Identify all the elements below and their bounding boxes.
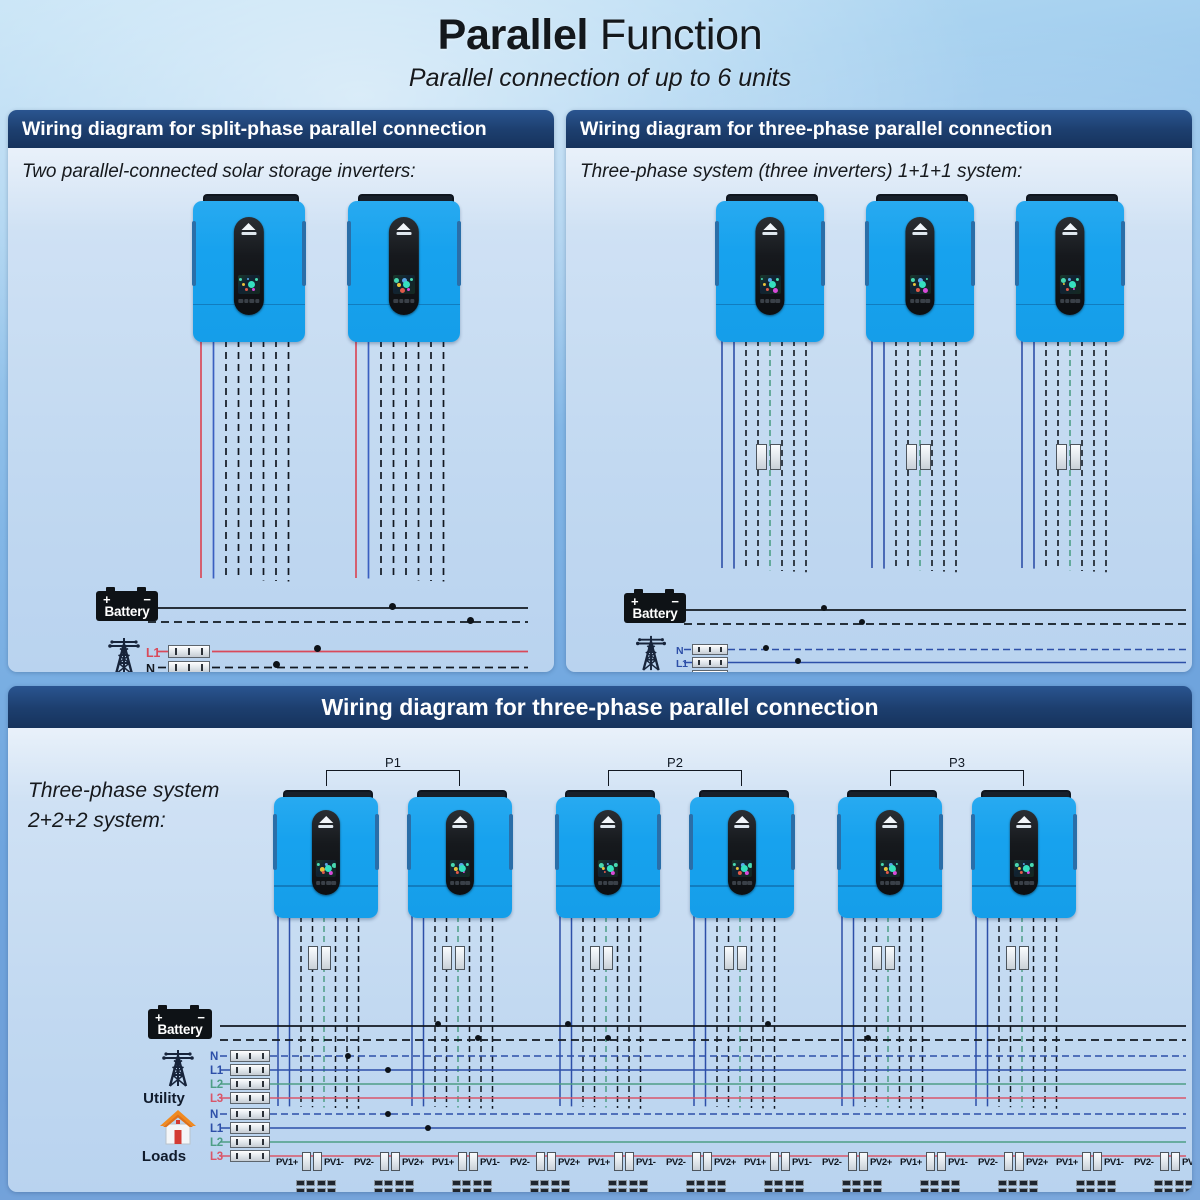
- inverter-unit-3[interactable]: [1016, 194, 1124, 342]
- inverter-front-panel: [755, 217, 784, 316]
- inverter-buttons[interactable]: [1014, 880, 1034, 886]
- inverter-unit-1[interactable]: [274, 790, 378, 918]
- page-header: Parallel Function Parallel connection of…: [0, 0, 1200, 108]
- utility-phase-label-N: N: [210, 1051, 218, 1063]
- inverter-button-1[interactable]: [765, 299, 769, 303]
- solar-cell: [920, 1180, 929, 1186]
- solar-cell: [920, 1188, 929, 1193]
- inverter-button-1[interactable]: [321, 881, 325, 885]
- battery-icon: +−Battery: [148, 1009, 212, 1039]
- logo-wordmark: [453, 825, 468, 828]
- inverter-button-0[interactable]: [732, 881, 736, 885]
- inverter-button-1[interactable]: [455, 881, 459, 885]
- lcd-indicator: [410, 278, 413, 281]
- inverter-button-3[interactable]: [255, 299, 260, 303]
- lcd-indicator: [776, 278, 779, 281]
- solar-cell: [317, 1188, 326, 1193]
- inverter-lcd-display: [760, 275, 781, 295]
- terminal-pin: [698, 660, 700, 666]
- inverter-buttons[interactable]: [732, 880, 752, 886]
- terminal-pin: [201, 664, 203, 671]
- brand-logo-icon: [1061, 223, 1079, 236]
- wire-junction-2: [345, 1053, 351, 1059]
- inverter-buttons[interactable]: [316, 880, 336, 886]
- loads-breaker-L3: [230, 1150, 270, 1162]
- logo-triangle-icon: [763, 223, 777, 230]
- lcd-indicator: [1073, 288, 1075, 290]
- inverter-button-1[interactable]: [603, 881, 607, 885]
- lcd-indicator: [1066, 288, 1069, 291]
- lcd-indicator: [916, 288, 920, 292]
- solar-cell: [1086, 1180, 1095, 1186]
- inverter-unit-2[interactable]: [866, 194, 974, 342]
- solar-cell: [629, 1180, 638, 1186]
- loads-phase-label-L2: L2: [210, 1137, 223, 1149]
- inverter-side-fin-left: [971, 814, 975, 870]
- lcd-indicator: [602, 867, 605, 870]
- group-label-P1: P1: [381, 755, 405, 770]
- inverter-button-3[interactable]: [466, 881, 470, 885]
- lcd-indicator: [923, 288, 928, 293]
- inverter-side-fin-right: [821, 221, 825, 286]
- inverter-button-3[interactable]: [748, 881, 752, 885]
- lcd-indicator: [611, 871, 615, 875]
- inverter-body: [274, 797, 378, 918]
- logo-wordmark: [762, 232, 777, 235]
- inverter-button-3[interactable]: [332, 881, 336, 885]
- inverter-body: [348, 201, 460, 342]
- loads-phase-label-N: N: [210, 1109, 218, 1121]
- inverter-side-fin-left: [715, 221, 719, 286]
- solar-cell: [296, 1180, 305, 1186]
- pv-terminal-left-7: [770, 1152, 779, 1171]
- solar-cell: [405, 1180, 414, 1186]
- pv-terminal-left-10: [1004, 1152, 1013, 1171]
- lcd-indicator: [1076, 278, 1079, 281]
- inverter-lcd-display: [450, 860, 470, 877]
- solar-cell: [530, 1188, 539, 1193]
- inverter-unit-6[interactable]: [972, 790, 1076, 918]
- brand-logo-icon: [733, 816, 750, 827]
- lcd-indicator: [748, 863, 752, 868]
- solar-cell: [462, 1188, 471, 1193]
- inverter-button-0[interactable]: [760, 299, 764, 303]
- inverter-lcd-display: [910, 275, 931, 295]
- utility-breaker-L1: [168, 645, 210, 658]
- solar-panel-icon: [842, 1180, 882, 1192]
- inverter-body: [838, 797, 942, 918]
- solar-cell: [795, 1180, 804, 1186]
- lcd-indicator: [332, 863, 336, 868]
- inverter-front-panel: [446, 810, 474, 895]
- inverter-unit-4[interactable]: [690, 790, 794, 918]
- brand-logo-icon: [451, 816, 468, 827]
- solar-cell: [863, 1180, 872, 1186]
- logo-wordmark: [601, 825, 616, 828]
- inverter-button-1[interactable]: [1019, 881, 1023, 885]
- terminal-pin: [175, 664, 177, 671]
- inverter-breaker-b-2: [920, 444, 931, 470]
- lcd-center-indicator: [403, 281, 410, 288]
- wire-junction-8: [765, 1021, 771, 1027]
- pv-terminal-right-9: [937, 1152, 946, 1171]
- pv-array-5: PV array: [608, 1180, 648, 1192]
- lcd-indicator: [1030, 863, 1034, 867]
- pv-array-8: PV array: [842, 1180, 882, 1192]
- inverter-breaker-b-5: [885, 946, 895, 970]
- inverter-side-fin-right: [302, 221, 306, 286]
- inverter-button-0[interactable]: [238, 299, 243, 303]
- terminal-pin: [262, 1125, 264, 1131]
- solar-cell: [1029, 1188, 1038, 1193]
- loads-phase-label-L3: L3: [210, 1151, 223, 1163]
- solar-cell: [1185, 1180, 1192, 1186]
- inverter-front-panel: [1055, 217, 1084, 316]
- inverter-body: [866, 201, 974, 342]
- terminal-pin: [698, 647, 700, 653]
- inverter-breaker-b-4: [737, 946, 747, 970]
- inverter-breaker-b-2: [455, 946, 465, 970]
- terminal-pin: [262, 1053, 264, 1059]
- solar-cell: [540, 1180, 549, 1186]
- inverter-buttons[interactable]: [880, 880, 900, 886]
- solar-cell: [1019, 1180, 1028, 1186]
- inverter-unit-2[interactable]: [408, 790, 512, 918]
- inverter-button-3[interactable]: [614, 881, 618, 885]
- inverter-side-fin-right: [657, 814, 661, 870]
- inverter-button-2[interactable]: [890, 881, 894, 885]
- inverter-button-0[interactable]: [598, 881, 602, 885]
- logo-triangle-icon: [883, 816, 897, 823]
- wire-junction-7: [605, 1035, 611, 1041]
- lcd-indicator: [1018, 867, 1021, 870]
- inverter-breaker-a-6: [1006, 946, 1016, 970]
- inverter-side-fin-left: [555, 814, 559, 870]
- inverter-button-2[interactable]: [1070, 299, 1074, 303]
- inverter-button-1[interactable]: [915, 299, 919, 303]
- pv-terminal-label-left-9: PV1+: [900, 1157, 922, 1168]
- terminal-pin: [188, 648, 190, 655]
- pv-terminal-left-6: [692, 1152, 701, 1171]
- pv-array-9: PV array: [920, 1180, 960, 1192]
- inverter-button-0[interactable]: [393, 299, 398, 303]
- inverter-lcd-display: [1014, 860, 1034, 877]
- inverter-button-3[interactable]: [896, 881, 900, 885]
- pv-terminal-label-right-6: PV2+: [714, 1157, 736, 1168]
- pv-array-12: PV array: [1154, 1180, 1192, 1192]
- group-label-P2: P2: [663, 755, 687, 770]
- inverter-button-0[interactable]: [880, 881, 884, 885]
- inverter-button-2[interactable]: [326, 881, 330, 885]
- brand-logo-icon: [881, 816, 898, 827]
- lcd-indicator: [886, 871, 889, 874]
- group-label-P3: P3: [945, 755, 969, 770]
- inverter-button-1[interactable]: [885, 881, 889, 885]
- solar-cell: [686, 1180, 695, 1186]
- solar-cell: [774, 1180, 783, 1186]
- utility-breaker-N: [692, 644, 728, 655]
- pv-terminal-label-right-3: PV1-: [480, 1157, 500, 1168]
- battery-plus-label: +: [631, 596, 639, 610]
- inverter-unit-2[interactable]: [348, 194, 460, 342]
- lcd-indicator: [733, 863, 736, 866]
- inverter-button-2[interactable]: [608, 881, 612, 885]
- terminal-pin: [236, 1139, 238, 1145]
- pv-terminal-left-9: [926, 1152, 935, 1171]
- pv-terminal-label-right-12: PV2+: [1182, 1157, 1192, 1168]
- inverter-button-2[interactable]: [460, 881, 464, 885]
- utility-phase-label-L1: L1: [676, 658, 688, 670]
- pv-terminal-left-11: [1082, 1152, 1091, 1171]
- inverter-side-fin-left: [689, 814, 693, 870]
- inverter-front-panel: [594, 810, 622, 895]
- pv-array-6: PV array: [686, 1180, 726, 1192]
- pv-terminal-right-1: [313, 1152, 322, 1171]
- inverter-button-3[interactable]: [926, 299, 930, 303]
- inverter-button-0[interactable]: [450, 881, 454, 885]
- pv-array-3: PV array: [452, 1180, 492, 1192]
- solar-panel-icon: [998, 1180, 1038, 1192]
- solar-cell: [1076, 1188, 1085, 1193]
- inverter-breaker-a-1: [756, 444, 767, 470]
- inverter-button-1[interactable]: [737, 881, 741, 885]
- inverter-button-0[interactable]: [1060, 299, 1064, 303]
- inverter-button-3[interactable]: [776, 299, 780, 303]
- solar-cell: [608, 1180, 617, 1186]
- pv-terminal-right-2: [391, 1152, 400, 1171]
- inverter-button-0[interactable]: [316, 881, 320, 885]
- inverter-button-2[interactable]: [249, 299, 254, 303]
- inverter-lcd-display: [238, 275, 260, 295]
- inverter-buttons[interactable]: [760, 297, 780, 304]
- panel-three-phase-111-header: Wiring diagram for three-phase parallel …: [566, 110, 1192, 148]
- lcd-center-indicator: [325, 865, 332, 872]
- inverter-buttons[interactable]: [1060, 297, 1080, 304]
- wire-junction-5: [425, 1125, 431, 1131]
- inverter-button-3[interactable]: [1030, 881, 1034, 885]
- inverter-side-fin-right: [1073, 814, 1077, 870]
- inverter-unit-1[interactable]: [716, 194, 824, 342]
- inverter-button-0[interactable]: [1014, 881, 1018, 885]
- page-title: Parallel Function: [0, 0, 1200, 58]
- utility-phase-label-L1: L1: [210, 1065, 223, 1077]
- solar-panel-icon: [530, 1180, 570, 1192]
- inverter-buttons[interactable]: [450, 880, 470, 886]
- battery-plus-label: +: [155, 1012, 163, 1026]
- brand-logo-icon: [395, 223, 414, 236]
- terminal-pin: [262, 1081, 264, 1087]
- battery-minus-label: −: [143, 594, 151, 608]
- logo-triangle-icon: [735, 816, 749, 823]
- lcd-indicator: [911, 278, 915, 282]
- transmission-tower-icon: [158, 1048, 198, 1088]
- logo-triangle-icon: [319, 816, 333, 823]
- inverter-breaker-b-3: [603, 946, 613, 970]
- inverter-side-fin-left: [273, 814, 277, 870]
- inverter-side-fin-right: [1121, 221, 1125, 286]
- solar-cell: [998, 1180, 1007, 1186]
- solar-cell: [795, 1188, 804, 1193]
- inverter-button-1[interactable]: [1065, 299, 1069, 303]
- solar-panel-icon: [1076, 1180, 1116, 1192]
- wire-junction-0: [821, 605, 827, 611]
- solar-cell: [561, 1180, 570, 1186]
- terminal-pin: [262, 1139, 264, 1145]
- inverter-unit-1[interactable]: [193, 194, 305, 342]
- inverter-button-2[interactable]: [404, 299, 409, 303]
- inverter-buttons[interactable]: [598, 880, 618, 886]
- solar-cell: [1029, 1180, 1038, 1186]
- solar-cell: [1175, 1180, 1184, 1186]
- panel-split-phase-header: Wiring diagram for split-phase parallel …: [8, 110, 554, 148]
- terminal-pin: [249, 1081, 251, 1087]
- solar-panel-icon: [1154, 1180, 1192, 1192]
- inverter-breaker-a-2: [442, 946, 452, 970]
- lcd-indicator: [766, 288, 769, 291]
- pv-terminal-right-7: [781, 1152, 790, 1171]
- lcd-indicator: [239, 278, 242, 281]
- wire-junction-6: [565, 1021, 571, 1027]
- terminal-pin: [720, 660, 722, 666]
- wire-junction-1: [859, 619, 865, 625]
- inverter-buttons[interactable]: [238, 297, 259, 304]
- logo-wordmark: [1017, 825, 1032, 828]
- solar-cell: [639, 1188, 648, 1193]
- inverter-button-1[interactable]: [399, 299, 404, 303]
- inverter-breaker-b-6: [1019, 946, 1029, 970]
- utility-breaker-L3: [230, 1092, 270, 1104]
- battery-polarity-marks: +−: [624, 596, 686, 610]
- pv-terminal-label-right-5: PV1-: [636, 1157, 656, 1168]
- solar-cell: [384, 1188, 393, 1193]
- solar-cell: [1008, 1180, 1017, 1186]
- inverter-button-0[interactable]: [910, 299, 914, 303]
- inverter-lcd-display: [880, 860, 900, 877]
- inverter-side-fin-right: [939, 814, 943, 870]
- solar-cell: [473, 1180, 482, 1186]
- solar-cell: [306, 1180, 315, 1186]
- pv-terminal-label-left-10: PV2-: [978, 1157, 998, 1168]
- inverter-buttons[interactable]: [910, 297, 930, 304]
- pv-terminal-label-right-1: PV1-: [324, 1157, 344, 1168]
- pv-terminal-right-6: [703, 1152, 712, 1171]
- inverter-button-1[interactable]: [244, 299, 249, 303]
- inverter-breaker-b-1: [321, 946, 331, 970]
- logo-wordmark: [1062, 232, 1077, 235]
- logo-triangle-icon: [453, 816, 467, 823]
- lcd-indicator: [329, 871, 333, 875]
- battery-minus-label: −: [671, 596, 679, 610]
- solar-panel-icon: [608, 1180, 648, 1192]
- logo-wordmark: [883, 825, 898, 828]
- battery-minus-label: −: [197, 1012, 205, 1026]
- solar-cell: [296, 1188, 305, 1193]
- inverter-button-2[interactable]: [920, 299, 924, 303]
- inverter-button-3[interactable]: [410, 299, 415, 303]
- inverter-buttons[interactable]: [393, 297, 414, 304]
- terminal-pin: [236, 1067, 238, 1073]
- pv-terminal-label-right-2: PV2+: [402, 1157, 424, 1168]
- solar-cell: [452, 1180, 461, 1186]
- inverter-side-fin-left: [1015, 221, 1019, 286]
- page-title-bold: Parallel: [438, 11, 589, 59]
- solar-cell: [686, 1188, 695, 1193]
- logo-triangle-icon: [242, 223, 256, 230]
- lcd-indicator: [736, 867, 739, 870]
- terminal-pin: [249, 1153, 251, 1159]
- solar-cell: [873, 1188, 882, 1193]
- utility-breaker-L1: [230, 1064, 270, 1076]
- panel-three-phase-222: Wiring diagram for three-phase parallel …: [8, 686, 1192, 1192]
- solar-cell: [842, 1188, 851, 1193]
- solar-cell: [306, 1188, 315, 1193]
- pv-terminal-label-left-6: PV2-: [666, 1157, 686, 1168]
- brand-logo-icon: [1015, 816, 1032, 827]
- solar-cell: [696, 1188, 705, 1193]
- utility-breaker-L1: [692, 657, 728, 668]
- panel-three-phase-222-body: Three-phase system 2+2+2 system: P1P2P3+…: [8, 728, 1192, 1192]
- pv-terminal-label-left-4: PV2-: [510, 1157, 530, 1168]
- inverter-button-2[interactable]: [742, 881, 746, 885]
- pv-terminal-left-2: [380, 1152, 389, 1171]
- pv-array-4: PV array: [530, 1180, 570, 1192]
- terminal-pin: [249, 1095, 251, 1101]
- inverter-body: [1016, 201, 1124, 342]
- logo-wordmark: [396, 232, 412, 235]
- lcd-indicator: [773, 288, 778, 293]
- solar-cell: [785, 1188, 794, 1193]
- wire-junction-3: [385, 1067, 391, 1073]
- inverter-lcd-display: [598, 860, 618, 877]
- pv-terminal-label-left-2: PV2-: [354, 1157, 374, 1168]
- pv-terminal-label-left-7: PV1+: [744, 1157, 766, 1168]
- inverter-unit-5[interactable]: [838, 790, 942, 918]
- wire-junction-3: [795, 658, 801, 664]
- solar-cell: [639, 1180, 648, 1186]
- inverter-breaker-a-3: [1056, 444, 1067, 470]
- wire-junction-2: [314, 645, 321, 652]
- lcd-indicator: [761, 278, 763, 280]
- solar-cell: [384, 1180, 393, 1186]
- inverter-button-2[interactable]: [770, 299, 774, 303]
- inverter-lcd-display: [316, 860, 336, 877]
- inverter-body: [690, 797, 794, 918]
- wire-junction-9: [865, 1035, 871, 1041]
- solar-cell: [483, 1180, 492, 1186]
- terminal-pin: [249, 1125, 251, 1131]
- lcd-center-indicator: [769, 281, 776, 288]
- logo-triangle-icon: [1017, 816, 1031, 823]
- pv-terminal-label-right-4: PV2+: [558, 1157, 580, 1168]
- pv-array-11: PV array: [1076, 1180, 1116, 1192]
- inverter-front-panel: [389, 217, 419, 316]
- pv-terminal-right-3: [469, 1152, 478, 1171]
- inverter-button-3[interactable]: [1076, 299, 1080, 303]
- battery-plus-label: +: [103, 594, 111, 608]
- solar-cell: [873, 1180, 882, 1186]
- solar-cell: [405, 1188, 414, 1193]
- inverter-unit-3[interactable]: [556, 790, 660, 918]
- inverter-button-2[interactable]: [1024, 881, 1028, 885]
- inverter-breaker-a-3: [590, 946, 600, 970]
- wire-junction-1: [467, 617, 474, 624]
- solar-cell: [540, 1188, 549, 1193]
- inverter-breaker-a-1: [308, 946, 318, 970]
- inverter-front-panel: [876, 810, 904, 895]
- pv-terminal-right-4: [547, 1152, 556, 1171]
- lcd-indicator: [763, 283, 766, 286]
- lcd-indicator: [738, 871, 742, 875]
